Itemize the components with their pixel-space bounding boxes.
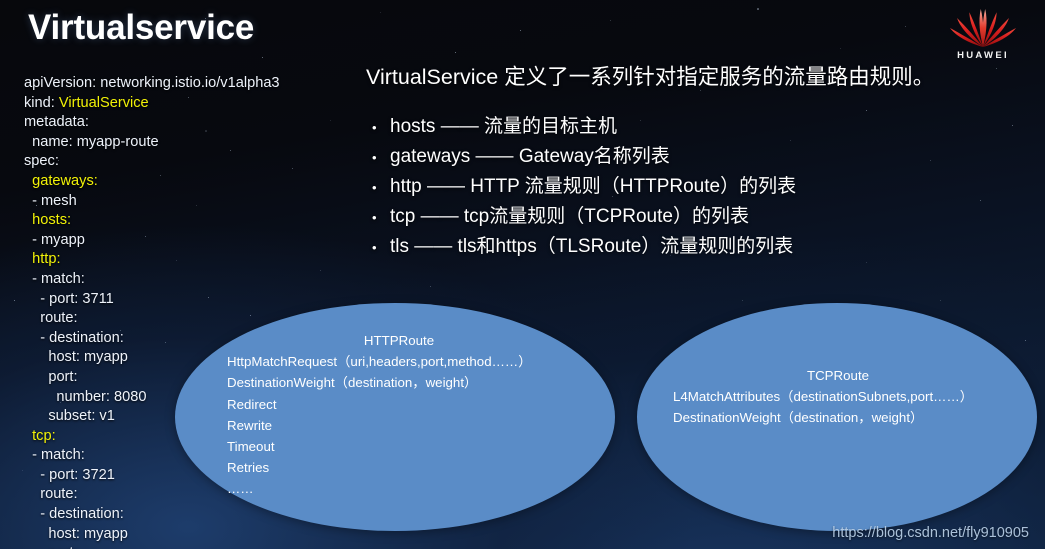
httproute-content: HTTPRouteHttpMatchRequest（uri,headers,po…: [227, 330, 563, 500]
bullet-label: tcp —— tcp流量规则（TCPRoute）的列表: [390, 202, 749, 231]
yaml-line: name: myapp-route: [24, 133, 280, 153]
star-speck: [292, 168, 293, 169]
star-speck: [757, 8, 759, 10]
tcp-title: TCPRoute: [673, 365, 1003, 386]
yaml-line: gateways:: [24, 172, 280, 192]
httproute-ellipse: HTTPRouteHttpMatchRequest（uri,headers,po…: [175, 303, 615, 531]
star-speck: [430, 286, 431, 287]
bullet-dot-icon: •: [372, 203, 390, 232]
star-speck: [610, 20, 611, 21]
http-line: Timeout: [227, 436, 563, 457]
yaml-line: route:: [24, 309, 280, 329]
http-line: Rewrite: [227, 415, 563, 436]
bullet-item: •tls —— tls和https（TLSRoute）流量规则的列表: [372, 232, 1022, 262]
bullet-label: tls —— tls和https（TLSRoute）流量规则的列表: [390, 232, 793, 261]
yaml-line: port:: [24, 544, 280, 549]
bullet-list: •hosts —— 流量的目标主机•gateways —— Gateway名称列…: [372, 112, 1022, 262]
star-speck: [905, 26, 906, 27]
bullet-dot-icon: •: [372, 233, 390, 262]
http-line: DestinationWeight（destination，weight）: [227, 372, 563, 393]
bullet-item: •hosts —— 流量的目标主机: [372, 112, 1022, 142]
page-title: Virtualservice: [28, 8, 254, 48]
star-speck: [455, 52, 456, 53]
star-speck: [262, 57, 263, 58]
star-speck: [866, 262, 867, 263]
yaml-line: http:: [24, 250, 280, 270]
star-speck: [996, 68, 997, 69]
yaml-key: VirtualService: [59, 95, 149, 111]
bullet-item: •http —— HTTP 流量规则（HTTPRoute）的列表: [372, 172, 1022, 202]
yaml-key: tcp:: [32, 428, 56, 444]
yaml-line: host: myapp: [24, 525, 280, 545]
tcp-line: L4MatchAttributes（destinationSubnets,por…: [673, 386, 1003, 407]
tcproute-ellipse: TCPRouteL4MatchAttributes（destinationSub…: [637, 303, 1037, 531]
yaml-key: hosts:: [32, 212, 71, 228]
star-speck: [14, 300, 15, 301]
bullet-dot-icon: •: [372, 143, 390, 172]
star-speck: [940, 300, 941, 301]
bullet-dot-icon: •: [372, 113, 390, 142]
star-speck: [320, 270, 321, 271]
bullet-label: gateways —— Gateway名称列表: [390, 142, 670, 171]
yaml-line: kind: VirtualService: [24, 94, 280, 114]
huawei-logo: HUAWEI: [947, 7, 1019, 63]
slide-canvas: Virtualservice: [0, 0, 1045, 549]
yaml-line: apiVersion: networking.istio.io/v1alpha3: [24, 74, 280, 94]
star-speck: [1025, 340, 1026, 341]
http-line: Retries: [227, 457, 563, 478]
star-speck: [22, 470, 23, 471]
yaml-line: metadata:: [24, 113, 280, 133]
bullet-label: hosts —— 流量的目标主机: [390, 112, 617, 141]
star-speck: [840, 48, 841, 49]
huawei-wordmark: HUAWEI: [947, 50, 1019, 61]
bullet-item: •gateways —— Gateway名称列表: [372, 142, 1022, 172]
yaml-line: hosts:: [24, 211, 280, 231]
yaml-line: - destination:: [24, 505, 280, 525]
star-speck: [380, 12, 381, 13]
bullet-dot-icon: •: [372, 173, 390, 202]
bullet-label: http —— HTTP 流量规则（HTTPRoute）的列表: [390, 172, 796, 201]
yaml-key: http:: [32, 251, 60, 267]
star-speck: [866, 110, 867, 111]
http-line: Redirect: [227, 394, 563, 415]
bullet-item: •tcp —— tcp流量规则（TCPRoute）的列表: [372, 202, 1022, 232]
http-title: HTTPRoute: [227, 330, 563, 351]
tcp-line: DestinationWeight（destination，weight）: [673, 407, 1003, 428]
star-speck: [520, 30, 521, 31]
yaml-line: - match:: [24, 270, 280, 290]
tcproute-content: TCPRouteL4MatchAttributes（destinationSub…: [673, 365, 1003, 429]
http-line: HttpMatchRequest（uri,headers,port,method…: [227, 351, 563, 372]
star-speck: [330, 120, 331, 121]
watermark-url: https://blog.csdn.net/fly910905: [832, 525, 1029, 541]
http-line: ……: [227, 478, 563, 499]
yaml-line: - port: 3711: [24, 290, 280, 310]
yaml-line: - mesh: [24, 192, 280, 212]
huawei-petals-icon: [947, 7, 1019, 49]
intro-text: VirtualService 定义了一系列针对指定服务的流量路由规则。: [366, 60, 934, 91]
yaml-line: - myapp: [24, 231, 280, 251]
yaml-line: spec:: [24, 152, 280, 172]
yaml-key: gateways:: [32, 173, 98, 189]
star-speck: [742, 300, 743, 301]
